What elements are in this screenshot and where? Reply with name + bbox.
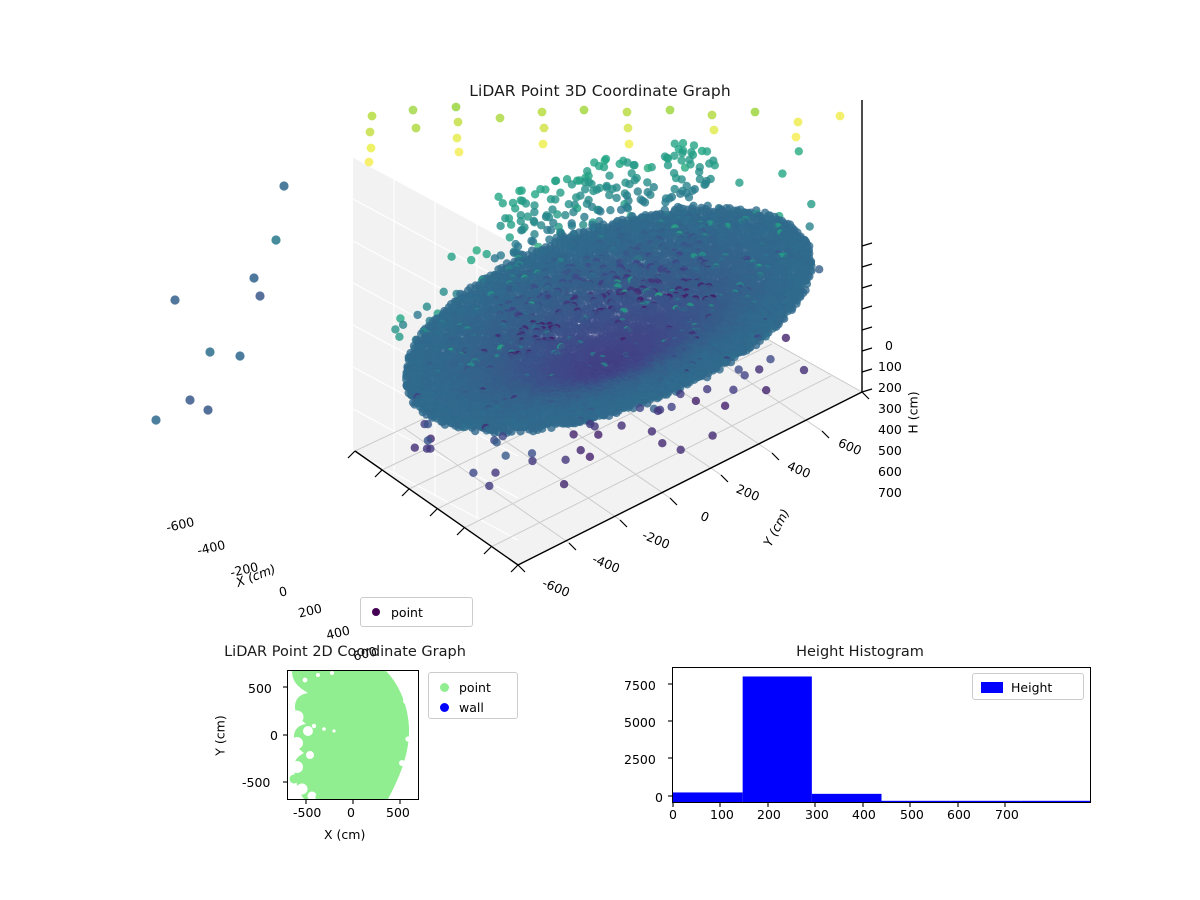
lidar-point — [661, 198, 669, 206]
lidar-point — [612, 194, 620, 202]
lidar-point — [447, 253, 455, 261]
lidar-point — [606, 206, 614, 214]
lidar-point — [703, 147, 711, 155]
lidar-point — [553, 210, 561, 218]
lidar-point — [815, 265, 823, 273]
lidar-point — [616, 160, 624, 168]
lidar-point — [515, 187, 523, 195]
lidar-point — [413, 311, 421, 319]
lidar-point — [522, 199, 530, 207]
lidar-point — [676, 190, 684, 198]
lidar-point — [695, 168, 703, 176]
lidar-point — [467, 256, 475, 264]
lidar-point — [556, 189, 564, 197]
lidar-point — [630, 161, 638, 169]
lidar-point — [778, 169, 786, 177]
lidar-point — [541, 185, 549, 193]
lidar-point — [711, 161, 719, 169]
lidar-point — [641, 198, 649, 206]
lidar-point — [499, 199, 507, 207]
plot3d-title: LiDAR Point 3D Coordinate Graph — [0, 82, 1200, 100]
lidar-point — [507, 221, 515, 229]
lidar-point — [395, 333, 403, 341]
lidar-point — [664, 161, 672, 169]
lidar-point — [646, 191, 654, 199]
lidar-point — [795, 147, 803, 155]
lidar-point — [625, 180, 633, 188]
lidar-point — [473, 246, 481, 254]
lidar-point — [568, 222, 576, 230]
lidar-point — [605, 172, 613, 180]
lidar-point — [782, 334, 790, 342]
lidar-point — [596, 207, 604, 215]
lidar-point — [568, 180, 576, 188]
figure-canvas: LiDAR Point 3D Coordinate Graph — [0, 0, 1200, 900]
lidar-point — [496, 222, 504, 230]
lidar-point — [678, 149, 686, 157]
lidar-point — [531, 190, 539, 198]
lidar-point — [579, 221, 587, 229]
lidar-point — [561, 211, 569, 219]
lidar-point — [634, 187, 642, 195]
lidar-point — [440, 288, 448, 296]
lidar-point — [506, 233, 514, 241]
lidar-point — [399, 321, 407, 329]
lidar-point — [551, 195, 559, 203]
lidar-point — [685, 193, 693, 201]
lidar-point — [491, 254, 499, 262]
lidar-point — [517, 226, 525, 234]
lidar-point — [483, 250, 491, 258]
lidar-point — [569, 208, 577, 216]
lidar-point — [589, 187, 597, 195]
lidar-point — [551, 177, 559, 185]
lidar-point — [572, 193, 580, 201]
lidar-point — [511, 204, 519, 212]
plot3d-canvas — [150, 100, 1050, 620]
lidar-point — [580, 213, 588, 221]
lidar-point — [423, 303, 431, 311]
lidar-point — [700, 181, 708, 189]
lidar-point — [807, 200, 815, 208]
lidar-point — [644, 164, 652, 172]
lidar-point — [617, 206, 625, 214]
lidar-point — [391, 325, 399, 333]
plot3d-axes[interactable]: 0 100 200 300 400 500 600 700 H (cm) -60… — [150, 100, 1050, 620]
lidar-point — [681, 163, 689, 171]
lidar-point — [766, 355, 774, 363]
lidar-point — [600, 163, 608, 171]
lidar-point — [605, 191, 613, 199]
lidar-point — [806, 222, 814, 230]
lidar-point — [735, 179, 743, 187]
sparse-mid-returns — [151, 181, 288, 424]
lidar-point — [547, 226, 555, 234]
